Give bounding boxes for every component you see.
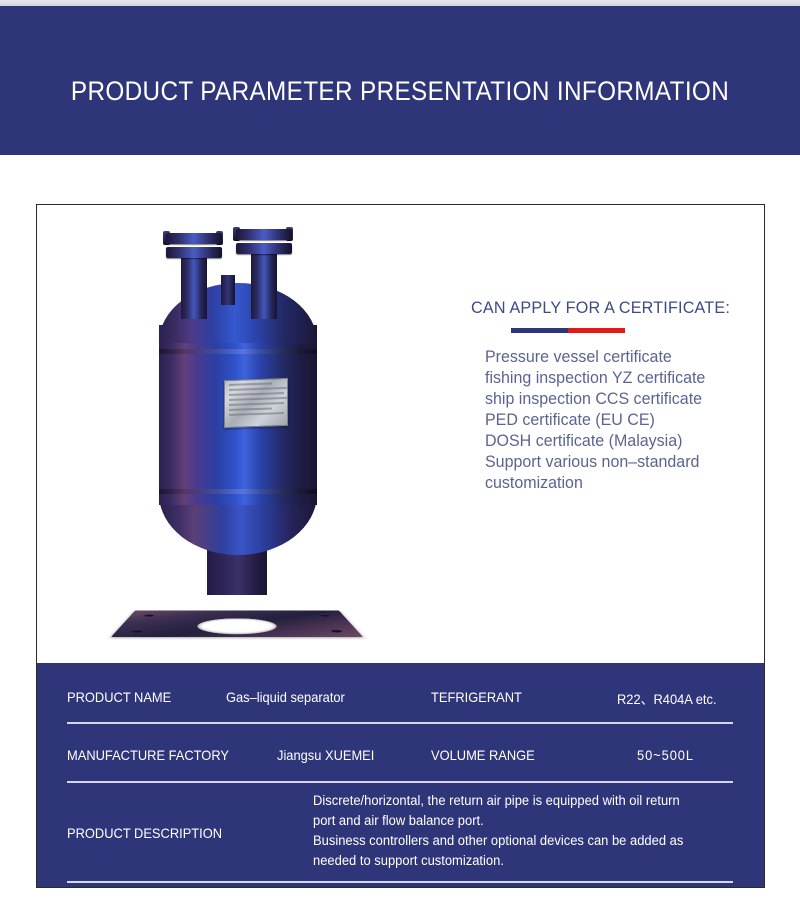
content-card: CAN APPLY FOR A CERTIFICATE: Pressure ve…	[36, 204, 765, 888]
spec-label-product-description: PRODUCT DESCRIPTION	[67, 825, 222, 841]
list-item: DOSH certificate (Malaysia)	[485, 431, 753, 452]
list-item: ship inspection CCS certificate	[485, 389, 753, 410]
product-parameter-page: PRODUCT PARAMETER PRESENTATION INFORMATI…	[0, 0, 800, 906]
flange-plate	[236, 229, 292, 240]
description-line: port and air flow balance port.	[313, 811, 716, 831]
list-item: customization	[485, 473, 753, 494]
product-illustration	[99, 217, 429, 649]
spec-value-product-description: Discrete/horizontal, the return air pipe…	[313, 791, 733, 871]
flange-plate	[166, 233, 222, 244]
spec-label-product-name: PRODUCT NAME	[67, 689, 171, 705]
spec-label-manufacture-factory: MANUFACTURE FACTORY	[67, 747, 229, 763]
base-plate-bolt-hole	[330, 629, 344, 632]
heading-divider	[511, 328, 625, 333]
spec-value-volume-range: 50~500L	[637, 747, 694, 763]
header-banner: PRODUCT PARAMETER PRESENTATION INFORMATI…	[0, 6, 800, 155]
vessel-weld-seam	[159, 349, 317, 354]
certificate-block: CAN APPLY FOR A CERTIFICATE: Pressure ve…	[471, 297, 761, 494]
base-plate-bolt-hole	[131, 629, 145, 632]
row-separator	[67, 781, 733, 783]
base-plate-hole	[195, 618, 279, 634]
row-separator	[67, 722, 733, 724]
description-line: needed to support customization.	[313, 851, 716, 871]
vessel-weld-seam	[159, 489, 317, 494]
spec-label-volume-range: VOLUME RANGE	[431, 747, 535, 763]
product-image	[99, 217, 429, 649]
list-item: fishing inspection YZ certificate	[485, 368, 753, 389]
certificate-heading: CAN APPLY FOR A CERTIFICATE:	[471, 297, 747, 319]
spec-value-refrigerant: R22、R404A etc.	[617, 689, 717, 709]
inlet-pipe	[181, 253, 207, 319]
list-item: Pressure vessel certificate	[485, 347, 753, 368]
spec-label-refrigerant: TEFRIGERANT	[431, 689, 522, 705]
base-plate-bolt-hole	[143, 614, 155, 616]
spec-value-manufacture-factory: Jiangsu XUEMEI	[277, 747, 374, 763]
row-separator	[67, 881, 733, 883]
divider-red-segment	[568, 328, 625, 333]
spec-table: PRODUCT NAME Gas–liquid separator TEFRIG…	[37, 663, 764, 887]
page-title: PRODUCT PARAMETER PRESENTATION INFORMATI…	[40, 76, 760, 106]
outlet-pipe	[251, 253, 277, 319]
certificate-list: Pressure vessel certificate fishing insp…	[485, 347, 761, 494]
base-plate-bolt-hole	[319, 614, 331, 616]
divider-blue-segment	[511, 328, 568, 333]
spec-value-product-name: Gas–liquid separator	[226, 689, 345, 705]
list-item: PED certificate (EU CE)	[485, 410, 753, 431]
description-line: Business controllers and other optional …	[313, 831, 716, 851]
description-line: Discrete/horizontal, the return air pipe…	[313, 791, 716, 811]
base-plate	[111, 610, 363, 637]
list-item: Support various non–standard	[485, 452, 753, 473]
flange-plate	[236, 243, 292, 254]
center-nozzle	[221, 275, 235, 305]
product-nameplate	[224, 378, 288, 428]
flange-plate	[166, 247, 222, 258]
